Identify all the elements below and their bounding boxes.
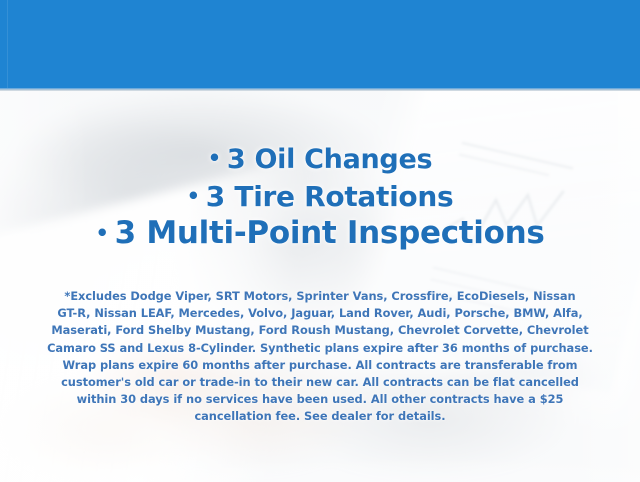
list-item: •3 Tire Rotations xyxy=(0,178,640,215)
disclaimer-line: cancellation fee. See dealer for details… xyxy=(26,408,614,425)
bullet-dot-icon: • xyxy=(95,221,108,245)
disclaimer-line: customer's old car or trade-in to their … xyxy=(26,374,614,391)
disclaimer-fine-print: *Excludes Dodge Viper, SRT Motors, Sprin… xyxy=(26,288,614,426)
bullet-dot-icon: • xyxy=(187,184,200,208)
list-item-label: 3 Oil Changes xyxy=(227,144,432,175)
disclaimer-line: *Excludes Dodge Viper, SRT Motors, Sprin… xyxy=(26,288,614,305)
disclaimer-line: within 30 days if no services have been … xyxy=(26,391,614,408)
list-item-label: 3 Tire Rotations xyxy=(206,180,454,213)
banner-edge-line xyxy=(7,0,8,88)
list-item-label: 3 Multi-Point Inspections xyxy=(115,215,545,251)
list-item: •3 Multi-Point Inspections xyxy=(0,215,640,252)
disclaimer-line: Maserati, Ford Shelby Mustang, Ford Rous… xyxy=(26,322,614,339)
extracare-package-promo-card: ExtraCare Package* •3 Oil Changes •3 Tir… xyxy=(0,0,640,482)
banner-bottom-seam xyxy=(0,88,640,91)
list-item: •3 Oil Changes xyxy=(0,140,640,178)
header-banner xyxy=(0,0,640,88)
bullet-dot-icon: • xyxy=(208,146,221,170)
disclaimer-line: Camaro SS and Lexus 8-Cylinder. Syntheti… xyxy=(26,340,614,357)
disclaimer-line: GT-R, Nissan LEAF, Mercedes, Volvo, Jagu… xyxy=(26,305,614,322)
disclaimer-line: Wrap plans expire 60 months after purcha… xyxy=(26,357,614,374)
included-services-list: •3 Oil Changes •3 Tire Rotations •3 Mult… xyxy=(0,140,640,252)
